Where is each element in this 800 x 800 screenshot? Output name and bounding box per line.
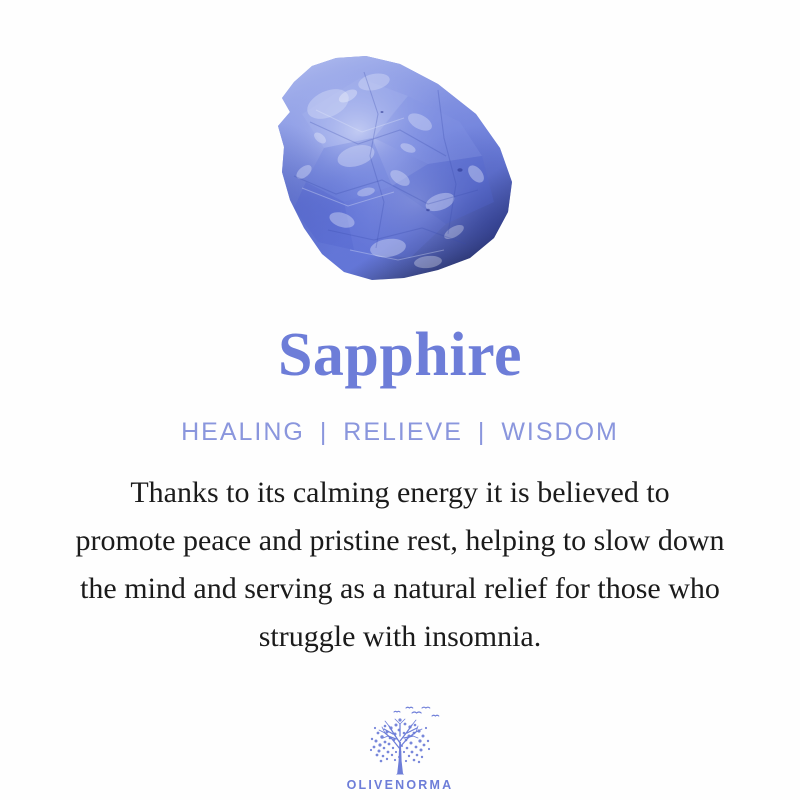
hero-image-area [0,0,800,320]
keyword-relieve: RELIEVE [343,418,463,446]
keyword-line: HEALING | RELIEVE | WISDOM [181,390,619,447]
keyword-wisdom: WISDOM [501,418,619,446]
brand-logo: OLIVENORMA [0,703,800,792]
keyword-separator-2: | [472,418,493,446]
description-line-1: Thanks to its calming energy it is belie… [20,469,780,517]
description-text: Thanks to its calming energy it is belie… [20,447,780,661]
page-title: Sapphire [278,320,522,390]
brand-wordmark: OLIVENORMA [347,778,454,792]
description-line-4: struggle with insomnia. [20,613,780,661]
sapphire-info-card: Sapphire HEALING | RELIEVE | WISDOM Than… [0,0,800,800]
tree-with-birds-icon [352,703,448,777]
description-line-2: promote peace and pristine rest, helping… [20,517,780,565]
sapphire-stone-image [232,52,532,292]
keyword-separator-1: | [314,418,335,446]
keyword-healing: HEALING [181,418,305,446]
description-line-3: the mind and serving as a natural relief… [20,565,780,613]
raw-sapphire-crystal-icon [232,52,532,292]
